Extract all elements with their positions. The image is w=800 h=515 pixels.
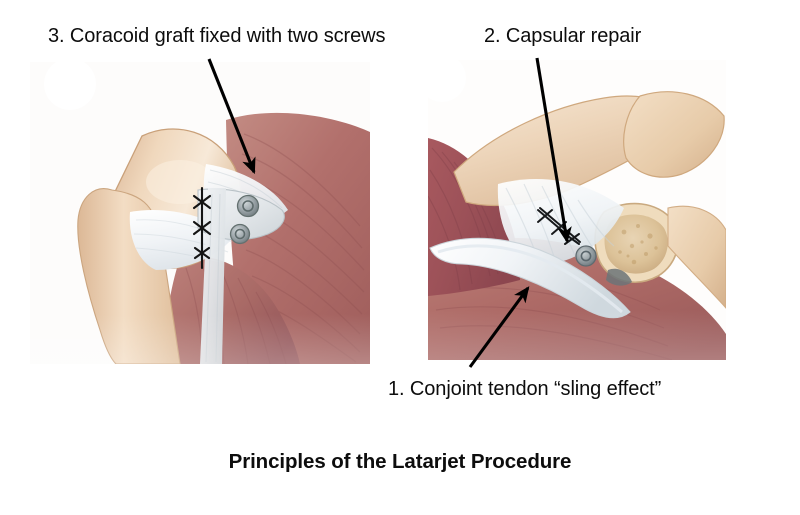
figure-title: Principles of the Latarjet Procedure [0, 450, 800, 474]
panel-fade [30, 314, 370, 364]
annotation-label-conjoint-tendon: 1. Conjoint tendon “sling effect” [388, 377, 661, 401]
right-panel-fade [428, 310, 726, 360]
screw-inferior [231, 225, 250, 244]
annotation-label-coracoid-graft: 3. Coracoid graft fixed with two screws [48, 24, 385, 48]
left-illustration-artwork [30, 62, 370, 364]
screw-superior [238, 196, 259, 217]
left-illustration [30, 62, 370, 364]
annotation-label-capsular-repair: 2. Capsular repair [484, 24, 641, 48]
figure-canvas: 3. Coracoid graft fixed with two screws … [0, 0, 800, 515]
right-illustration-artwork [428, 60, 726, 360]
right-illustration [428, 60, 726, 360]
screw-head [576, 246, 596, 266]
